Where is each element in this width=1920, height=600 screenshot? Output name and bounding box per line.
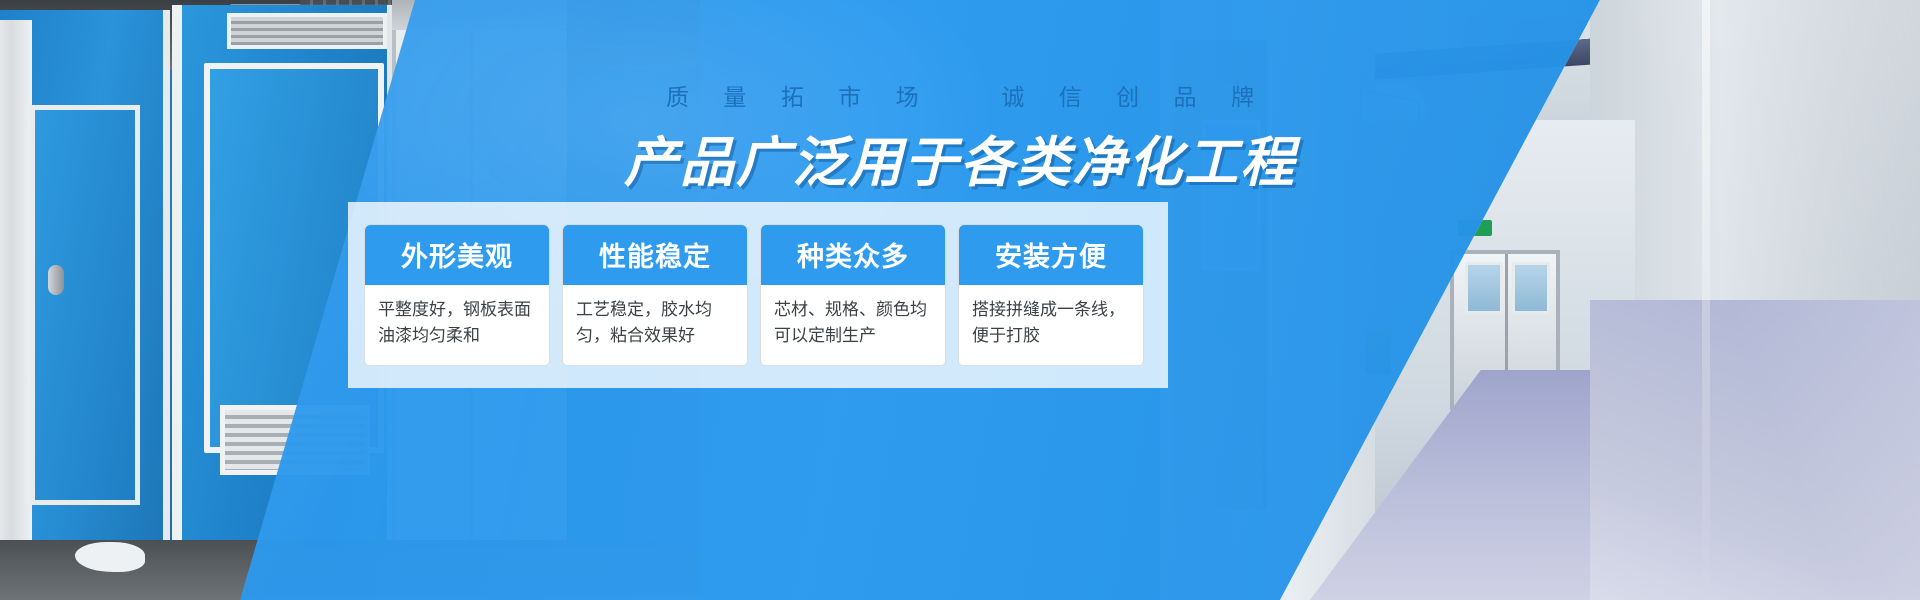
- cabin-left: [0, 10, 170, 600]
- feature-card[interactable]: 种类众多 芯材、规格、颜色均可以定制生产: [760, 224, 946, 366]
- cabin-left-handle: [48, 265, 64, 295]
- promo-banner: 质 量 拓 市 场 诚 信 创 品 牌 产品广泛用于各类净化工程 外形美观 平整…: [0, 0, 1920, 600]
- feature-cards-panel: 外形美观 平整度好，钢板表面油漆均匀柔和 性能稳定 工艺稳定，胶水均匀，粘合效果…: [348, 202, 1168, 388]
- feature-card-title: 种类众多: [761, 225, 945, 285]
- feature-card-title: 外形美观: [365, 225, 549, 285]
- feature-card[interactable]: 安装方便 搭接拼缝成一条线，便于打胶: [958, 224, 1144, 366]
- feature-card-body: 搭接拼缝成一条线，便于打胶: [959, 285, 1143, 362]
- feature-card-title: 性能稳定: [563, 225, 747, 285]
- feature-card-body: 平整度好，钢板表面油漆均匀柔和: [365, 285, 549, 362]
- cabin-left-door: [30, 105, 140, 505]
- feature-card-body: 芯材、规格、颜色均可以定制生产: [761, 285, 945, 362]
- cabin-center-vent: [227, 13, 387, 49]
- feature-card[interactable]: 外形美观 平整度好，钢板表面油漆均匀柔和: [364, 224, 550, 366]
- feature-card-title: 安装方便: [959, 225, 1143, 285]
- feature-card-body: 工艺稳定，胶水均匀，粘合效果好: [563, 285, 747, 362]
- cabin-left-frame: [0, 20, 32, 580]
- feature-card[interactable]: 性能稳定 工艺稳定，胶水均匀，粘合效果好: [562, 224, 748, 366]
